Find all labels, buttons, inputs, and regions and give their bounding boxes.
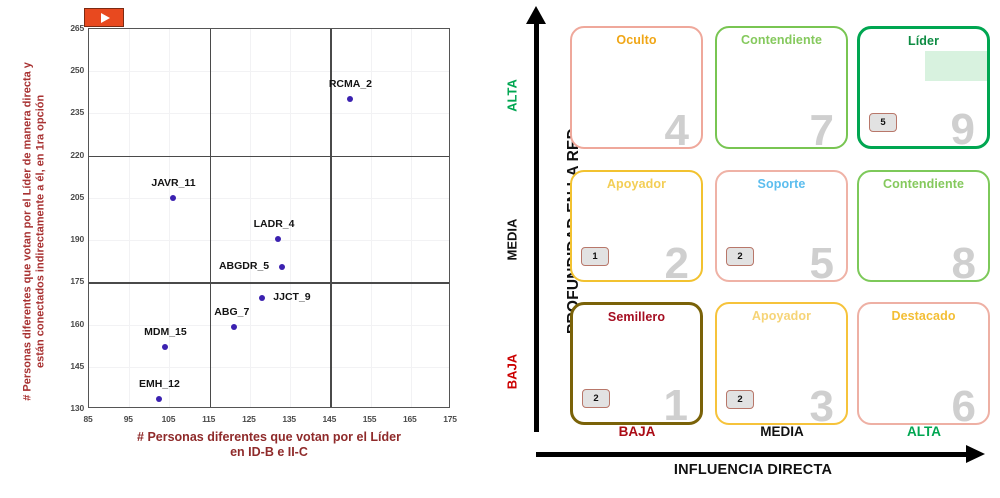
matrix-cell-6[interactable]: Destacado6	[857, 302, 990, 425]
grid-line-vertical	[169, 29, 170, 407]
scatter-point-label: ABG_7	[214, 306, 249, 318]
grid-line-horizontal	[89, 113, 449, 114]
arrow-up-icon	[526, 6, 546, 24]
scatter-point-label: EMH_12	[139, 378, 180, 390]
matrix-cell-count-badge[interactable]: 2	[582, 389, 610, 408]
matrix-cell-5[interactable]: Soporte52	[715, 170, 848, 282]
matrix-x-axis-title: INFLUENCIA DIRECTA	[536, 462, 970, 478]
matrix-cell-number: 6	[952, 385, 976, 425]
matrix-cell-title: Contendiente	[717, 33, 846, 47]
matrix-cell-title: Semillero	[573, 310, 700, 324]
x-axis-title-line1: # Personas diferentes que votan por el L…	[88, 430, 450, 445]
scatter-plot-area: RCMA_2JAVR_11LADR_4ABGDR_5JJCT_9ABG_7MDM…	[88, 28, 450, 408]
x-axis-tick: 135	[282, 414, 296, 424]
scatter-point[interactable]	[170, 195, 176, 201]
x-axis-tick: 95	[124, 414, 133, 424]
matrix-cell-number: 1	[664, 384, 688, 425]
scatter-chart-panel: RCMA_2JAVR_11LADR_4ABGDR_5JJCT_9ABG_7MDM…	[0, 0, 500, 498]
matrix-cell-title: Oculto	[572, 33, 701, 47]
grid-line-vertical	[250, 29, 251, 407]
x-axis-title-line2: en ID-B e II-C	[88, 445, 450, 460]
y-axis-tick: 205	[54, 192, 84, 202]
y-axis-tick: 160	[54, 319, 84, 329]
matrix-cell-count-badge[interactable]: 2	[726, 390, 754, 409]
matrix-cell-4[interactable]: Oculto4	[570, 26, 703, 149]
matrix-cell-title: Soporte	[717, 177, 846, 191]
y-axis-tick: 175	[54, 276, 84, 286]
matrix-y-level-alta: ALTA	[505, 63, 520, 129]
matrix-cell-count-badge[interactable]: 2	[726, 247, 754, 266]
grid-line-horizontal	[89, 325, 449, 326]
y-axis-tick: 190	[54, 234, 84, 244]
x-axis-tick: 165	[403, 414, 417, 424]
matrix-cell-title: Apoyador	[717, 309, 846, 323]
matrix-x-level-baja-0: BAJA	[567, 424, 707, 439]
scatter-point-label: JJCT_9	[273, 291, 310, 303]
matrix-cell-9[interactable]: Líder95	[857, 26, 990, 149]
grid-line-vertical	[129, 29, 130, 407]
scatter-point-label: ABGDR_5	[219, 260, 269, 272]
matrix-cell-title: Líder	[860, 34, 987, 48]
matrix-cell-2[interactable]: Apoyador21	[570, 170, 703, 282]
matrix-cell-number: 8	[952, 242, 976, 282]
arrow-right-icon	[966, 445, 985, 463]
matrix-cell-title: Apoyador	[572, 177, 701, 191]
matrix-cell-count-badge[interactable]: 1	[581, 247, 609, 266]
y-axis-tick: 220	[54, 150, 84, 160]
matrix-x-level-media-1: MEDIA	[712, 424, 852, 439]
matrix-y-axis-line	[534, 22, 539, 432]
scatter-point-label: JAVR_11	[151, 177, 195, 189]
y-axis-tick: 235	[54, 107, 84, 117]
quadrant-divider-horizontal	[89, 282, 449, 283]
scatter-point[interactable]	[156, 396, 162, 402]
matrix-cell-number: 4	[665, 109, 689, 149]
matrix-y-level-media: MEDIA	[505, 207, 520, 273]
matrix-cell-7[interactable]: Contendiente7	[715, 26, 848, 149]
matrix-y-level-baja: BAJA	[505, 339, 520, 405]
x-axis-tick: 105	[162, 414, 176, 424]
y-axis-tick: 250	[54, 65, 84, 75]
x-axis-tick-labels: 8595105115125135145155165175	[0, 414, 500, 428]
quadrant-divider-horizontal	[89, 156, 449, 157]
y-axis-title: # Personas diferentes que votan por el L…	[22, 51, 49, 411]
x-axis-tick: 175	[443, 414, 457, 424]
scatter-point[interactable]	[279, 264, 285, 270]
matrix-cell-number: 5	[810, 242, 834, 282]
scatter-point-label: MDM_15	[144, 326, 187, 338]
y-axis-tick: 145	[54, 361, 84, 371]
x-axis-tick: 85	[83, 414, 92, 424]
scatter-point-label: RCMA_2	[329, 78, 372, 90]
grid-line-horizontal	[89, 198, 449, 199]
scatter-point[interactable]	[162, 344, 168, 350]
x-axis-tick: 145	[323, 414, 337, 424]
matrix-cell-title: Contendiente	[859, 177, 988, 191]
matrix-cell-title: Destacado	[859, 309, 988, 323]
matrix-x-axis-line	[536, 452, 970, 457]
grid-line-horizontal	[89, 367, 449, 368]
x-axis-tick: 155	[363, 414, 377, 424]
scatter-point[interactable]	[347, 96, 353, 102]
y-axis-tick: 130	[54, 403, 84, 413]
matrix-cell-number: 9	[951, 108, 975, 149]
quadrant-divider-vertical	[210, 29, 211, 407]
matrix-cell-count-badge[interactable]: 5	[869, 113, 897, 132]
grid-line-horizontal	[89, 71, 449, 72]
y-axis-tick: 265	[54, 23, 84, 33]
matrix-cell-number: 3	[810, 385, 834, 425]
scatter-point[interactable]	[259, 295, 265, 301]
matrix-cell-1[interactable]: Semillero12	[570, 302, 703, 425]
scatter-point[interactable]	[231, 324, 237, 330]
x-axis-tick: 115	[202, 414, 215, 424]
matrix-cell-8[interactable]: Contendiente8	[857, 170, 990, 282]
play-icon	[101, 13, 110, 23]
grid-line-vertical	[411, 29, 412, 407]
cell-highlight-patch	[925, 51, 987, 81]
matrix-x-level-alta-2: ALTA	[854, 424, 994, 439]
scatter-point[interactable]	[275, 236, 281, 242]
matrix-cell-number: 7	[810, 109, 834, 149]
x-axis-title: # Personas diferentes que votan por el L…	[88, 430, 450, 460]
grid-line-horizontal	[89, 240, 449, 241]
matrix-panel: PROFUNDIDAD EN LA RED INFLUENCIA DIRECTA…	[500, 0, 1000, 498]
play-button-badge[interactable]	[84, 8, 124, 27]
x-axis-tick: 125	[242, 414, 256, 424]
scatter-point-label: LADR_4	[254, 218, 295, 230]
matrix-cell-number: 2	[665, 242, 689, 282]
matrix-cell-3[interactable]: Apoyador32	[715, 302, 848, 425]
